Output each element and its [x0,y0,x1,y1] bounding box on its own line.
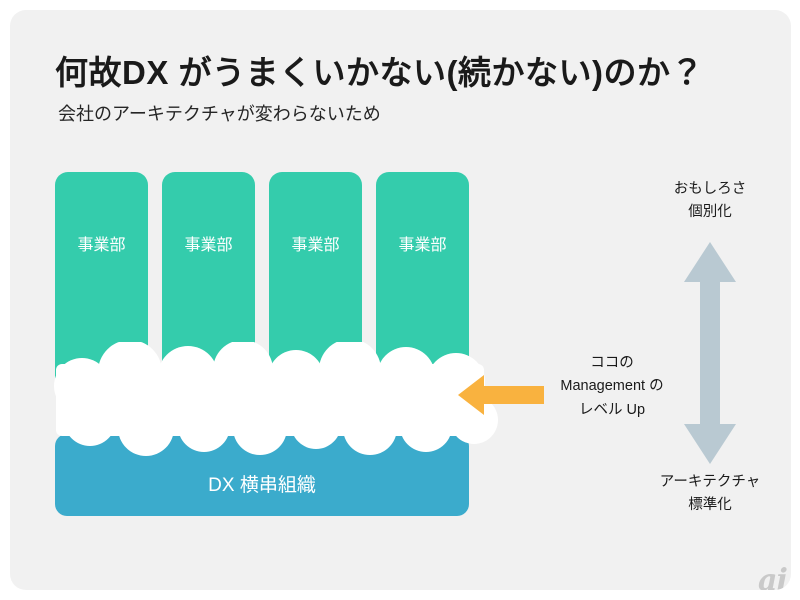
slide-canvas: 何故DX がうまくいかない(続かない)のか？ 会社のアーキテクチャが変わらないた… [10,10,791,590]
vertical-double-arrow-icon [682,242,738,464]
division-card-label: 事業部 [398,231,446,255]
brand-logo-text: ai [758,566,791,590]
brand-logo: ai [758,566,791,590]
division-card-label: 事業部 [77,231,125,255]
dx-cross-org-label: DX 横串組織 [208,470,316,497]
management-callout: ココの Management の レベル Up [532,352,692,422]
callout-line-2: Management の [532,375,692,398]
page-title: 何故DX がうまくいかない(続かない)のか？ [55,46,704,94]
axis-bottom-label: アーキテクチャ 標準化 [630,471,790,517]
callout-line-3: レベル Up [532,399,692,422]
division-card-label: 事業部 [291,231,339,255]
axis-top-line-2: 個別化 [630,201,790,224]
callout-line-1: ココの [532,352,692,375]
axis-bottom-line-1: アーキテクチャ [630,471,790,494]
axis-top-label: おもしろさ 個別化 [630,178,790,224]
dx-cross-org-bar: DX 横串組織 [55,434,469,516]
page-subtitle: 会社のアーキテクチャが変わらないため [58,100,381,126]
division-card: 事業部 [55,172,148,387]
division-card-label: 事業部 [184,231,232,255]
division-card: 事業部 [376,172,469,387]
division-card: 事業部 [162,172,255,387]
axis-bottom-line-2: 標準化 [630,494,790,517]
division-card: 事業部 [269,172,362,387]
axis-top-line-1: おもしろさ [630,178,790,201]
